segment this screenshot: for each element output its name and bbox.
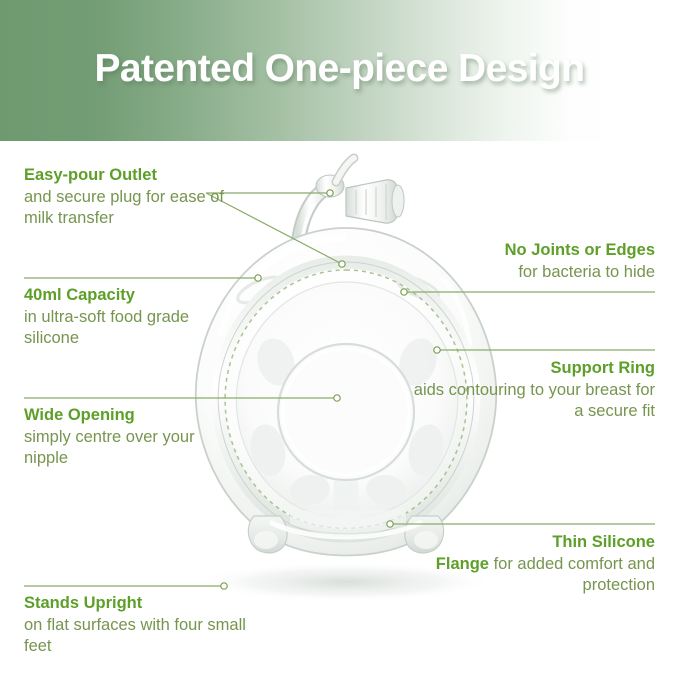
callout-wide-opening: Wide Opening simply centre over your nip… [24, 405, 224, 470]
callout-body: and secure plug for ease of milk transfe… [24, 188, 224, 228]
callout-heading: Thin Silicone [552, 533, 655, 551]
callout-heading: No Joints or Edges [505, 241, 655, 259]
callout-body: in ultra-soft food grade silicone [24, 308, 189, 348]
callout-thin-flange: Thin SiliconeFlange for added comfort an… [405, 532, 655, 597]
secure-plug [346, 180, 404, 223]
callout-body: for bacteria to hide [518, 263, 655, 281]
page-title: Patented One-piece Design [0, 0, 679, 141]
wide-opening [278, 344, 414, 480]
callout-heading: Easy-pour Outlet [24, 166, 157, 184]
callout-body: simply centre over your nipple [24, 428, 195, 468]
callout-heading: 40ml Capacity [24, 286, 135, 304]
callout-easy-pour-outlet: Easy-pour Outlet and secure plug for eas… [24, 165, 249, 230]
callout-heading-second: Flange [436, 555, 489, 573]
callout-support-ring: Support Ring aids contouring to your bre… [405, 358, 655, 423]
callout-heading: Wide Opening [24, 406, 135, 424]
callout-body: for added comfort and protection [489, 555, 655, 595]
callout-capacity: 40ml Capacity in ultra-soft food grade s… [24, 285, 239, 350]
callout-body: on flat surfaces with four small feet [24, 616, 246, 656]
callout-stands-upright: Stands Upright on flat surfaces with fou… [24, 593, 254, 658]
product-infographic: Patented One-piece Design [0, 0, 679, 679]
callout-no-joints: No Joints or Edges for bacteria to hide [395, 240, 655, 283]
callout-heading: Support Ring [551, 359, 655, 377]
callout-body: aids contouring to your breast for a sec… [414, 381, 655, 421]
callout-heading: Stands Upright [24, 594, 142, 612]
